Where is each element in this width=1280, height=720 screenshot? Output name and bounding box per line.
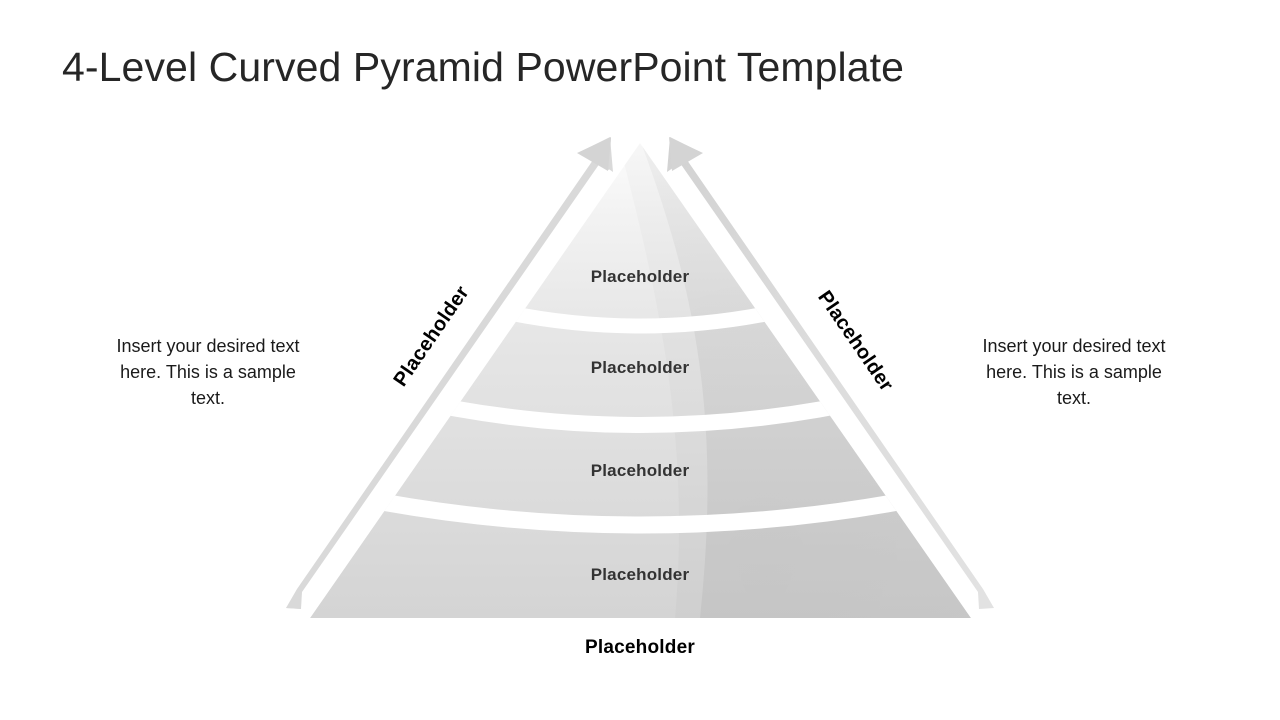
side-text-left[interactable]: Insert your desired text here. This is a… [110,333,306,411]
tier-label-2[interactable]: Placeholder [480,358,800,378]
tier-label-3[interactable]: Placeholder [480,461,800,481]
tier-label-1[interactable]: Placeholder [480,267,800,287]
tier-label-4[interactable]: Placeholder [480,565,800,585]
pyramid-base-caption[interactable]: Placeholder [480,637,800,659]
slide-canvas: 4-Level Curved Pyramid PowerPoint Templa… [0,0,1280,720]
side-text-right[interactable]: Insert your desired text here. This is a… [976,333,1172,411]
